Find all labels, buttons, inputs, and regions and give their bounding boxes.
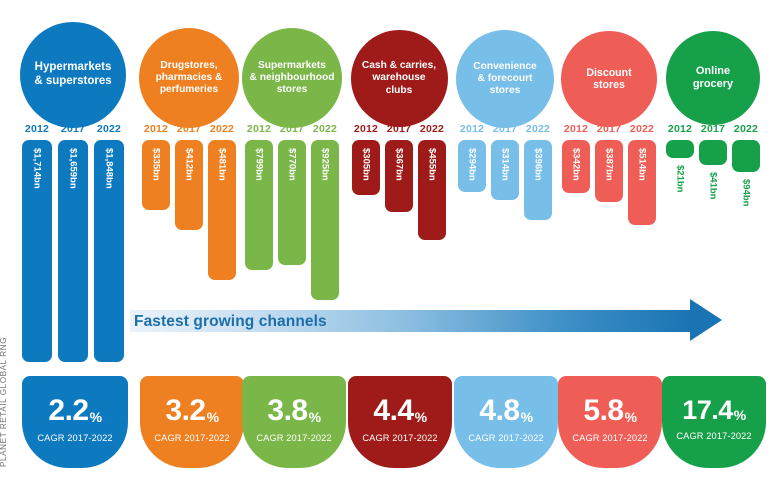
cagr-period-label: CAGR 2017-2022 [468,433,543,443]
cagr-number: 17.4 [682,397,733,424]
channel-bubble[interactable]: Discountstores [561,31,657,127]
value-bar[interactable] [699,140,727,165]
year-label: 2022 [418,123,446,135]
cagr-percent-sign: % [207,410,219,424]
cagr-value: 3.2% [165,396,218,426]
cagr-percent-sign: % [415,410,427,424]
bar-value-label: $41bn [708,172,719,199]
year-label: 2017 [278,123,306,135]
channel-bubble[interactable]: Convenience& forecourtstores [456,30,554,128]
cagr-period-label: CAGR 2017-2022 [572,433,647,443]
bar-value-label: $387bn [604,148,615,181]
bar-value-label: $770bn [287,148,298,181]
cagr-badge[interactable]: 4.4%CAGR 2017-2022 [348,376,452,468]
cagr-percent-sign: % [309,410,321,424]
year-label: 2012 [562,123,590,135]
bar-value-label: $925bn [320,148,331,181]
year-label: 2022 [208,123,236,135]
year-label: 2012 [458,123,486,135]
cagr-number: 3.8 [267,396,307,426]
bar-value-label: $1,659bn [68,148,79,189]
cagr-badge[interactable]: 5.8%CAGR 2017-2022 [558,376,662,468]
year-label: 2022 [311,123,339,135]
cagr-badge[interactable]: 3.2%CAGR 2017-2022 [140,376,244,468]
bar-value-label: $335bn [151,148,162,181]
value-bar[interactable] [732,140,760,172]
year-label: 2022 [524,123,552,135]
bar-value-label: $305bn [361,148,372,181]
cagr-badge[interactable]: 2.2%CAGR 2017-2022 [22,376,128,468]
cagr-period-label: CAGR 2017-2022 [154,433,229,443]
cagr-value: 4.4% [373,396,426,426]
channel-bubble-label: Hypermarkets& superstores [34,61,111,88]
cagr-value: 5.8% [583,396,636,426]
channel-bubble[interactable]: Onlinegrocery [666,31,760,125]
year-label: 2022 [628,123,656,135]
year-label: 2022 [732,123,760,135]
cagr-value: 3.8% [267,396,320,426]
bar-value-label: $514bn [637,148,648,181]
cagr-number: 5.8 [583,396,623,426]
year-label: 2012 [245,123,273,135]
year-label: 2017 [385,123,413,135]
year-label: 2022 [94,123,124,135]
year-label: 2017 [699,123,727,135]
year-label: 2017 [595,123,623,135]
cagr-number: 2.2 [48,396,88,426]
cagr-value: 2.2% [48,396,101,426]
year-label: 2012 [22,123,52,135]
cagr-value: 4.8% [479,396,532,426]
channel-bubble-label: Discountstores [586,67,631,92]
channel-bubble[interactable]: Hypermarkets& superstores [20,22,126,128]
cagr-percent-sign: % [90,410,102,424]
channel-bubble-label: Onlinegrocery [693,65,733,91]
year-label: 2017 [491,123,519,135]
cagr-number: 4.4 [373,396,413,426]
channel-bubble-label: Supermarkets& neighbourhoodstores [250,60,335,96]
year-label: 2017 [175,123,203,135]
cagr-period-label: CAGR 2017-2022 [256,433,331,443]
arrow-label: Fastest growing channels [134,313,327,331]
bar-value-label: $294bn [467,148,478,181]
cagr-number: 3.2 [165,396,205,426]
bar-value-label: $367bn [394,148,405,181]
bar-value-label: $21bn [675,165,686,192]
infographic-canvas: PLANET RETAIL GLOBAL RNG Fastest growing… [0,0,780,485]
bar-value-label: $455bn [427,148,438,181]
cagr-badge[interactable]: 17.4%CAGR 2017-2022 [662,376,766,468]
cagr-value: 17.4% [682,397,746,424]
channel-bubble[interactable]: Drugstores,pharmacies &perfumeries [139,28,239,128]
bar-value-label: $1,714bn [32,148,43,189]
arrow-head [690,299,722,341]
channel-bubble-label: Convenience& forecourtstores [473,61,536,97]
bar-value-label: $799bn [254,148,265,181]
channel-bubble-label: Drugstores,pharmacies &perfumeries [156,60,223,96]
channel-bubble[interactable]: Cash & carries,warehouseclubs [351,30,448,127]
cagr-percent-sign: % [625,410,637,424]
bar-value-label: $481bn [217,148,228,181]
cagr-percent-sign: % [521,410,533,424]
bar-value-label: $1,848bn [104,148,115,189]
value-bar[interactable] [666,140,694,158]
bar-value-label: $412bn [184,148,195,181]
cagr-badge[interactable]: 4.8%CAGR 2017-2022 [454,376,558,468]
year-label: 2012 [352,123,380,135]
year-label: 2012 [666,123,694,135]
cagr-number: 4.8 [479,396,519,426]
channel-bubble[interactable]: Supermarkets& neighbourhoodstores [242,28,342,128]
bar-value-label: $314bn [500,148,511,181]
cagr-badge[interactable]: 3.8%CAGR 2017-2022 [242,376,346,468]
cagr-period-label: CAGR 2017-2022 [37,433,112,443]
cagr-period-label: CAGR 2017-2022 [676,431,751,441]
channel-bubble-label: Cash & carries,warehouseclubs [362,60,436,96]
year-label: 2012 [142,123,170,135]
cagr-percent-sign: % [734,408,746,422]
bar-value-label: $94bn [741,179,752,206]
year-label: 2017 [58,123,88,135]
cagr-period-label: CAGR 2017-2022 [362,433,437,443]
bar-value-label: $396bn [533,148,544,181]
bar-value-label: $342bn [571,148,582,181]
source-credit: PLANET RETAIL GLOBAL RNG [0,287,8,467]
